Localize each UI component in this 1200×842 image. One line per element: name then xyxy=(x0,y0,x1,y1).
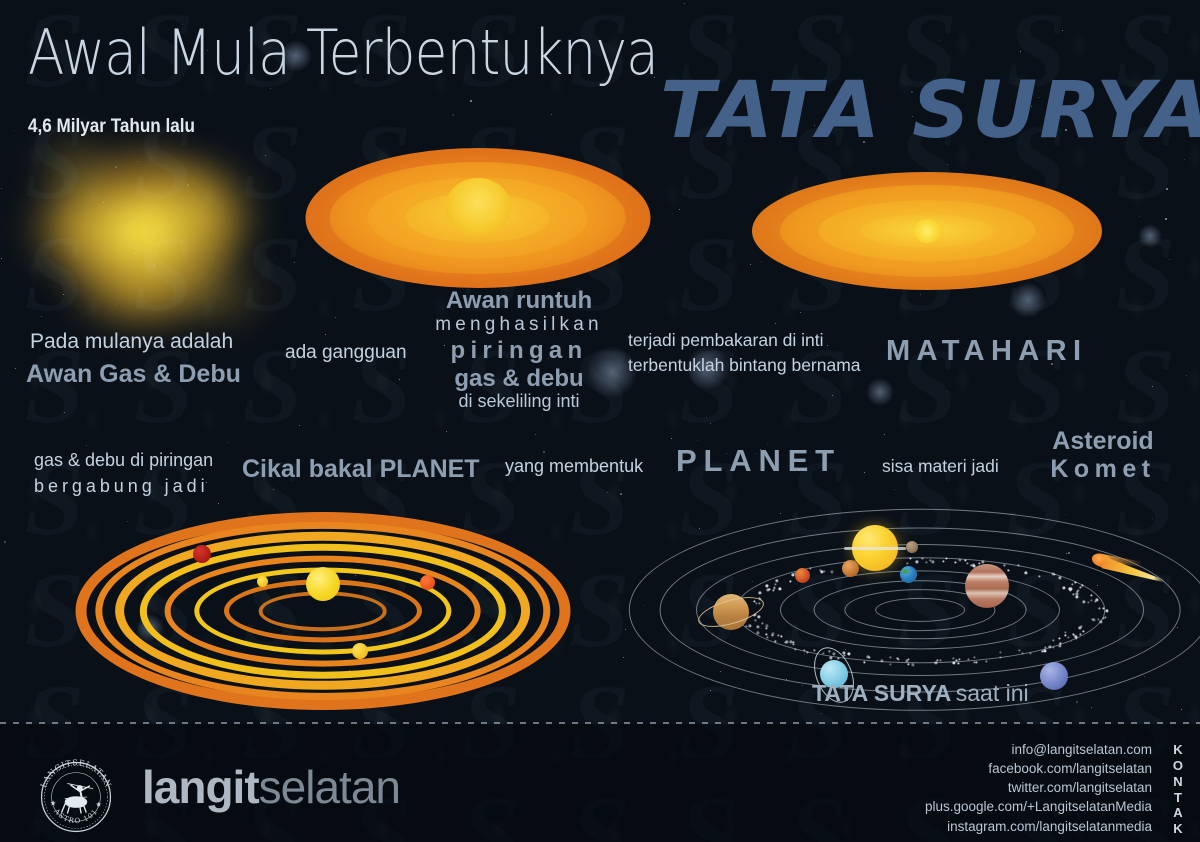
asteroid xyxy=(966,563,968,565)
asteroid xyxy=(1069,589,1071,591)
asteroid xyxy=(945,558,947,560)
asteroid xyxy=(773,590,775,592)
kontak-letter: A xyxy=(1173,805,1184,821)
star xyxy=(1166,188,1168,190)
brand-wordmark: langitselatan xyxy=(142,764,400,810)
asteroid xyxy=(1053,647,1055,649)
svg-text:LANGITSELATAN: LANGITSELATAN xyxy=(39,758,114,789)
asteroid xyxy=(806,651,808,653)
asteroid xyxy=(765,624,768,627)
asteroid xyxy=(942,560,944,562)
protoplanet-red xyxy=(193,545,211,563)
asteroid xyxy=(765,634,767,636)
contact-item[interactable]: instagram.com/langitselatanmedia xyxy=(925,817,1152,836)
asteroid xyxy=(1045,646,1047,648)
solar-system-caption: TATA SURYA saat ini xyxy=(812,680,1029,707)
asteroid xyxy=(957,663,959,665)
label-asteroid-komet-block: Asteroid Komet xyxy=(1028,428,1178,483)
asteroid xyxy=(1090,594,1092,596)
asteroid xyxy=(774,583,776,585)
star xyxy=(1152,386,1153,387)
asteroid xyxy=(1043,649,1046,652)
star-line-2: terbentuklah bintang bernama xyxy=(628,353,861,378)
star xyxy=(470,100,472,102)
asteroid xyxy=(761,623,763,625)
star xyxy=(920,294,921,295)
row2-left-block: gas & debu di piringan bergabung jadi xyxy=(34,448,213,499)
asteroid xyxy=(906,562,908,564)
star xyxy=(64,412,65,413)
star xyxy=(551,114,552,115)
star xyxy=(335,317,336,318)
planet-mercury xyxy=(906,541,918,553)
asteroid xyxy=(1091,618,1093,620)
asteroid xyxy=(1039,576,1041,578)
asteroid xyxy=(1105,610,1108,613)
asteroid xyxy=(1000,652,1002,654)
asteroid xyxy=(1102,608,1104,610)
contact-item[interactable]: info@langitselatan.com xyxy=(925,740,1152,759)
star xyxy=(832,395,833,396)
kontak-letter: K xyxy=(1173,821,1184,837)
stage-disturbance-caption: ada gangguan xyxy=(285,342,407,364)
asteroid xyxy=(847,652,850,655)
stage-nebula-caption-bold: Awan Gas & Debu xyxy=(26,360,241,389)
star xyxy=(1139,216,1140,217)
asteroid xyxy=(774,586,776,588)
planet-jupiter xyxy=(965,564,1009,608)
asteroid xyxy=(889,663,891,665)
asteroid xyxy=(952,658,954,660)
kontak-letter: K xyxy=(1173,742,1184,758)
star xyxy=(325,334,326,335)
asteroid xyxy=(766,628,768,630)
collapse-line-1: Awan runtuh xyxy=(424,288,614,314)
asteroid xyxy=(1082,631,1084,633)
asteroid xyxy=(973,656,975,658)
asteroid xyxy=(819,569,821,571)
asteroid xyxy=(1058,576,1061,579)
star xyxy=(218,503,219,504)
star xyxy=(571,644,572,645)
label-komet: Komet xyxy=(1028,456,1178,484)
star xyxy=(697,440,698,441)
asteroid xyxy=(1064,631,1066,633)
sun-orbit-overlay xyxy=(844,547,906,550)
asteroid xyxy=(1021,652,1023,654)
star xyxy=(800,312,801,313)
asteroid xyxy=(954,562,956,564)
asteroid xyxy=(754,619,756,621)
star xyxy=(947,391,948,392)
planet-neptune xyxy=(1040,662,1068,690)
asteroid xyxy=(889,656,891,658)
asteroid xyxy=(999,657,1001,659)
asteroid xyxy=(1058,645,1061,648)
star xyxy=(1020,51,1021,52)
star xyxy=(294,262,295,263)
contact-item[interactable]: twitter.com/langitselatan xyxy=(925,778,1152,797)
collapse-line-3: piringan xyxy=(424,336,614,365)
big-title-tata-surya: TATA SURYA xyxy=(660,72,1200,150)
stage-nebula-caption-light: Pada mulanya adalah xyxy=(30,330,233,354)
protoplanetary-disk-stage2 xyxy=(305,148,650,288)
asteroid xyxy=(1073,593,1075,595)
asteroid xyxy=(777,634,779,636)
protoplanetary-disk-stage3 xyxy=(752,172,1102,290)
asteroid xyxy=(810,567,812,569)
asteroid xyxy=(975,661,977,663)
kontak-letter: N xyxy=(1173,774,1184,790)
planet-venus xyxy=(842,560,859,577)
asteroid xyxy=(766,588,769,591)
asteroid xyxy=(789,581,791,583)
label-matahari: MATAHARI xyxy=(886,335,1087,368)
asteroid xyxy=(1076,638,1078,640)
asteroid xyxy=(756,625,759,628)
asteroid xyxy=(897,659,899,661)
star xyxy=(1,258,2,259)
asteroid xyxy=(909,558,911,560)
protoplanet-orange xyxy=(420,575,435,590)
asteroid xyxy=(1079,633,1081,635)
row2-right-caption: sisa materi jadi xyxy=(882,456,999,477)
asteroid xyxy=(926,562,928,564)
star-line-1: terjadi pembakaran di inti xyxy=(628,328,861,353)
star xyxy=(939,40,940,41)
kontak-vertical-label: KONTAK xyxy=(1173,742,1184,837)
asteroid xyxy=(911,663,914,666)
asteroid xyxy=(952,661,955,664)
star xyxy=(671,438,672,439)
planet-mars xyxy=(795,568,810,583)
asteroid xyxy=(1078,589,1080,591)
asteroid xyxy=(955,659,957,661)
asteroid xyxy=(1025,572,1028,575)
star xyxy=(710,423,711,424)
asteroid xyxy=(774,641,776,643)
star xyxy=(273,489,274,490)
collapse-line-4: gas & debu xyxy=(424,366,614,392)
asteroid xyxy=(958,558,961,561)
asteroid xyxy=(972,563,974,565)
star xyxy=(452,114,454,116)
asteroid xyxy=(778,587,781,590)
asteroid xyxy=(1083,600,1086,603)
star xyxy=(1062,30,1063,31)
kontak-letter: T xyxy=(1173,790,1184,806)
asteroid xyxy=(794,649,796,651)
asteroid xyxy=(831,571,834,574)
star xyxy=(4,541,6,543)
star xyxy=(1,188,2,189)
asteroid xyxy=(766,637,768,639)
asteroid xyxy=(1062,586,1065,589)
row2-mid-caption: yang membentuk xyxy=(505,456,643,477)
star xyxy=(750,264,751,265)
watermark-letter: S xyxy=(655,224,764,336)
protoplanet-small-yellow xyxy=(257,576,268,587)
asteroid xyxy=(1079,587,1081,589)
brand-langit: langit xyxy=(142,761,259,813)
solar-system-caption-bold: TATA SURYA xyxy=(812,680,951,706)
asteroid xyxy=(863,661,865,663)
asteroid xyxy=(1029,652,1031,654)
asteroid xyxy=(1076,595,1079,598)
star xyxy=(228,442,229,443)
star xyxy=(623,657,624,658)
star xyxy=(620,493,622,495)
contact-item[interactable]: facebook.com/langitselatan xyxy=(925,759,1152,778)
star xyxy=(446,431,447,432)
poster-canvas: SSSSSSSSSSSSSSSSSSSSSSSSSSSSSSSSSSSSSSSS… xyxy=(0,0,1200,842)
asteroid xyxy=(1088,602,1090,604)
collapse-line-5: di sekeliling inti xyxy=(424,391,614,413)
star xyxy=(1169,259,1170,260)
star xyxy=(543,451,545,453)
asteroid xyxy=(958,658,960,660)
solar-system-caption-light: saat ini xyxy=(956,680,1029,706)
asteroid xyxy=(982,560,985,563)
footer-divider xyxy=(0,722,1200,724)
star xyxy=(775,323,776,324)
stage-star-caption-block: terjadi pembakaran di inti terbentuklah … xyxy=(628,328,861,378)
star xyxy=(1186,375,1187,376)
asteroid xyxy=(880,659,883,662)
asteroid xyxy=(931,561,934,564)
asteroid xyxy=(1053,573,1055,575)
asteroid xyxy=(1068,636,1070,638)
star xyxy=(399,379,400,380)
asteroid xyxy=(915,560,918,563)
star xyxy=(894,489,895,490)
star xyxy=(706,417,707,418)
asteroid xyxy=(1081,584,1083,586)
star xyxy=(1165,218,1167,220)
asteroid xyxy=(867,656,870,659)
star-glow xyxy=(1138,224,1162,248)
asteroid xyxy=(968,659,970,661)
star xyxy=(947,164,948,165)
star xyxy=(607,492,608,493)
star xyxy=(679,209,680,210)
asteroid xyxy=(1075,581,1077,583)
asteroid xyxy=(1052,639,1054,641)
asteroid xyxy=(756,631,759,634)
asteroid xyxy=(791,573,794,576)
asteroid xyxy=(1007,569,1009,571)
asteroid xyxy=(776,580,779,583)
asteroid xyxy=(1049,646,1052,649)
asteroid xyxy=(813,650,815,652)
star xyxy=(299,425,300,426)
asteroid xyxy=(934,661,937,664)
asteroid xyxy=(1091,599,1093,601)
asteroid xyxy=(1071,584,1073,586)
asteroid xyxy=(1017,564,1019,566)
label-cikal-bakal-planet: Cikal bakal PLANET xyxy=(242,455,480,484)
asteroid xyxy=(748,625,751,628)
row2-left-line-2: bergabung jadi xyxy=(34,474,213,500)
asteroid xyxy=(780,636,782,638)
brand-selatan: selatan xyxy=(259,761,400,813)
row2-left-line-1: gas & debu di piringan xyxy=(34,448,213,474)
page-title: Awal Mula Terbentuknya xyxy=(28,22,658,84)
protoplanet-gold xyxy=(352,643,368,659)
star xyxy=(1184,159,1185,160)
earth-landmass xyxy=(902,569,909,574)
asteroid xyxy=(842,652,845,655)
star xyxy=(884,434,885,435)
asteroid xyxy=(1073,634,1075,636)
star xyxy=(535,434,536,435)
langitselatan-seal-logo: LANGITSELATAN ★ ASTRO 101 ★ xyxy=(34,755,118,839)
asteroid xyxy=(1065,634,1067,636)
asteroid xyxy=(771,632,774,635)
label-planet: PLANET xyxy=(676,443,841,479)
asteroid xyxy=(939,659,941,661)
asteroid xyxy=(1058,638,1060,640)
star xyxy=(86,445,87,446)
nebula-cloud-illustration xyxy=(12,118,280,346)
central-protostar xyxy=(306,567,340,601)
collapse-line-2: menghasilkan xyxy=(424,314,614,336)
star xyxy=(625,629,626,630)
asteroid xyxy=(765,584,768,587)
asteroid xyxy=(1019,649,1021,651)
contact-item[interactable]: plus.google.com/+LangitselatanMedia xyxy=(925,797,1152,816)
asteroid xyxy=(907,663,909,665)
stage-collapse-caption-block: Awan runtuh menghasilkan piringan gas & … xyxy=(424,288,614,413)
asteroid xyxy=(929,560,931,562)
star xyxy=(15,368,16,369)
asteroid xyxy=(758,615,761,618)
asteroid xyxy=(985,660,987,662)
asteroid xyxy=(758,591,761,594)
asteroid xyxy=(1103,617,1105,619)
asteroid xyxy=(1094,600,1096,602)
asteroid xyxy=(793,643,795,645)
label-asteroid: Asteroid xyxy=(1028,428,1178,456)
star-glow xyxy=(866,378,894,406)
star xyxy=(864,472,865,473)
accretion-disk-with-protoplanets xyxy=(75,512,570,710)
watermark-letter: S xyxy=(1091,224,1200,336)
asteroid xyxy=(1079,627,1082,630)
star xyxy=(684,3,685,4)
contact-list: info@langitselatan.comfacebook.com/langi… xyxy=(925,740,1152,836)
asteroid xyxy=(1098,608,1100,610)
kontak-letter: O xyxy=(1173,758,1184,774)
asteroid xyxy=(964,559,966,561)
asteroid xyxy=(1060,643,1062,645)
asteroid xyxy=(1004,564,1006,566)
